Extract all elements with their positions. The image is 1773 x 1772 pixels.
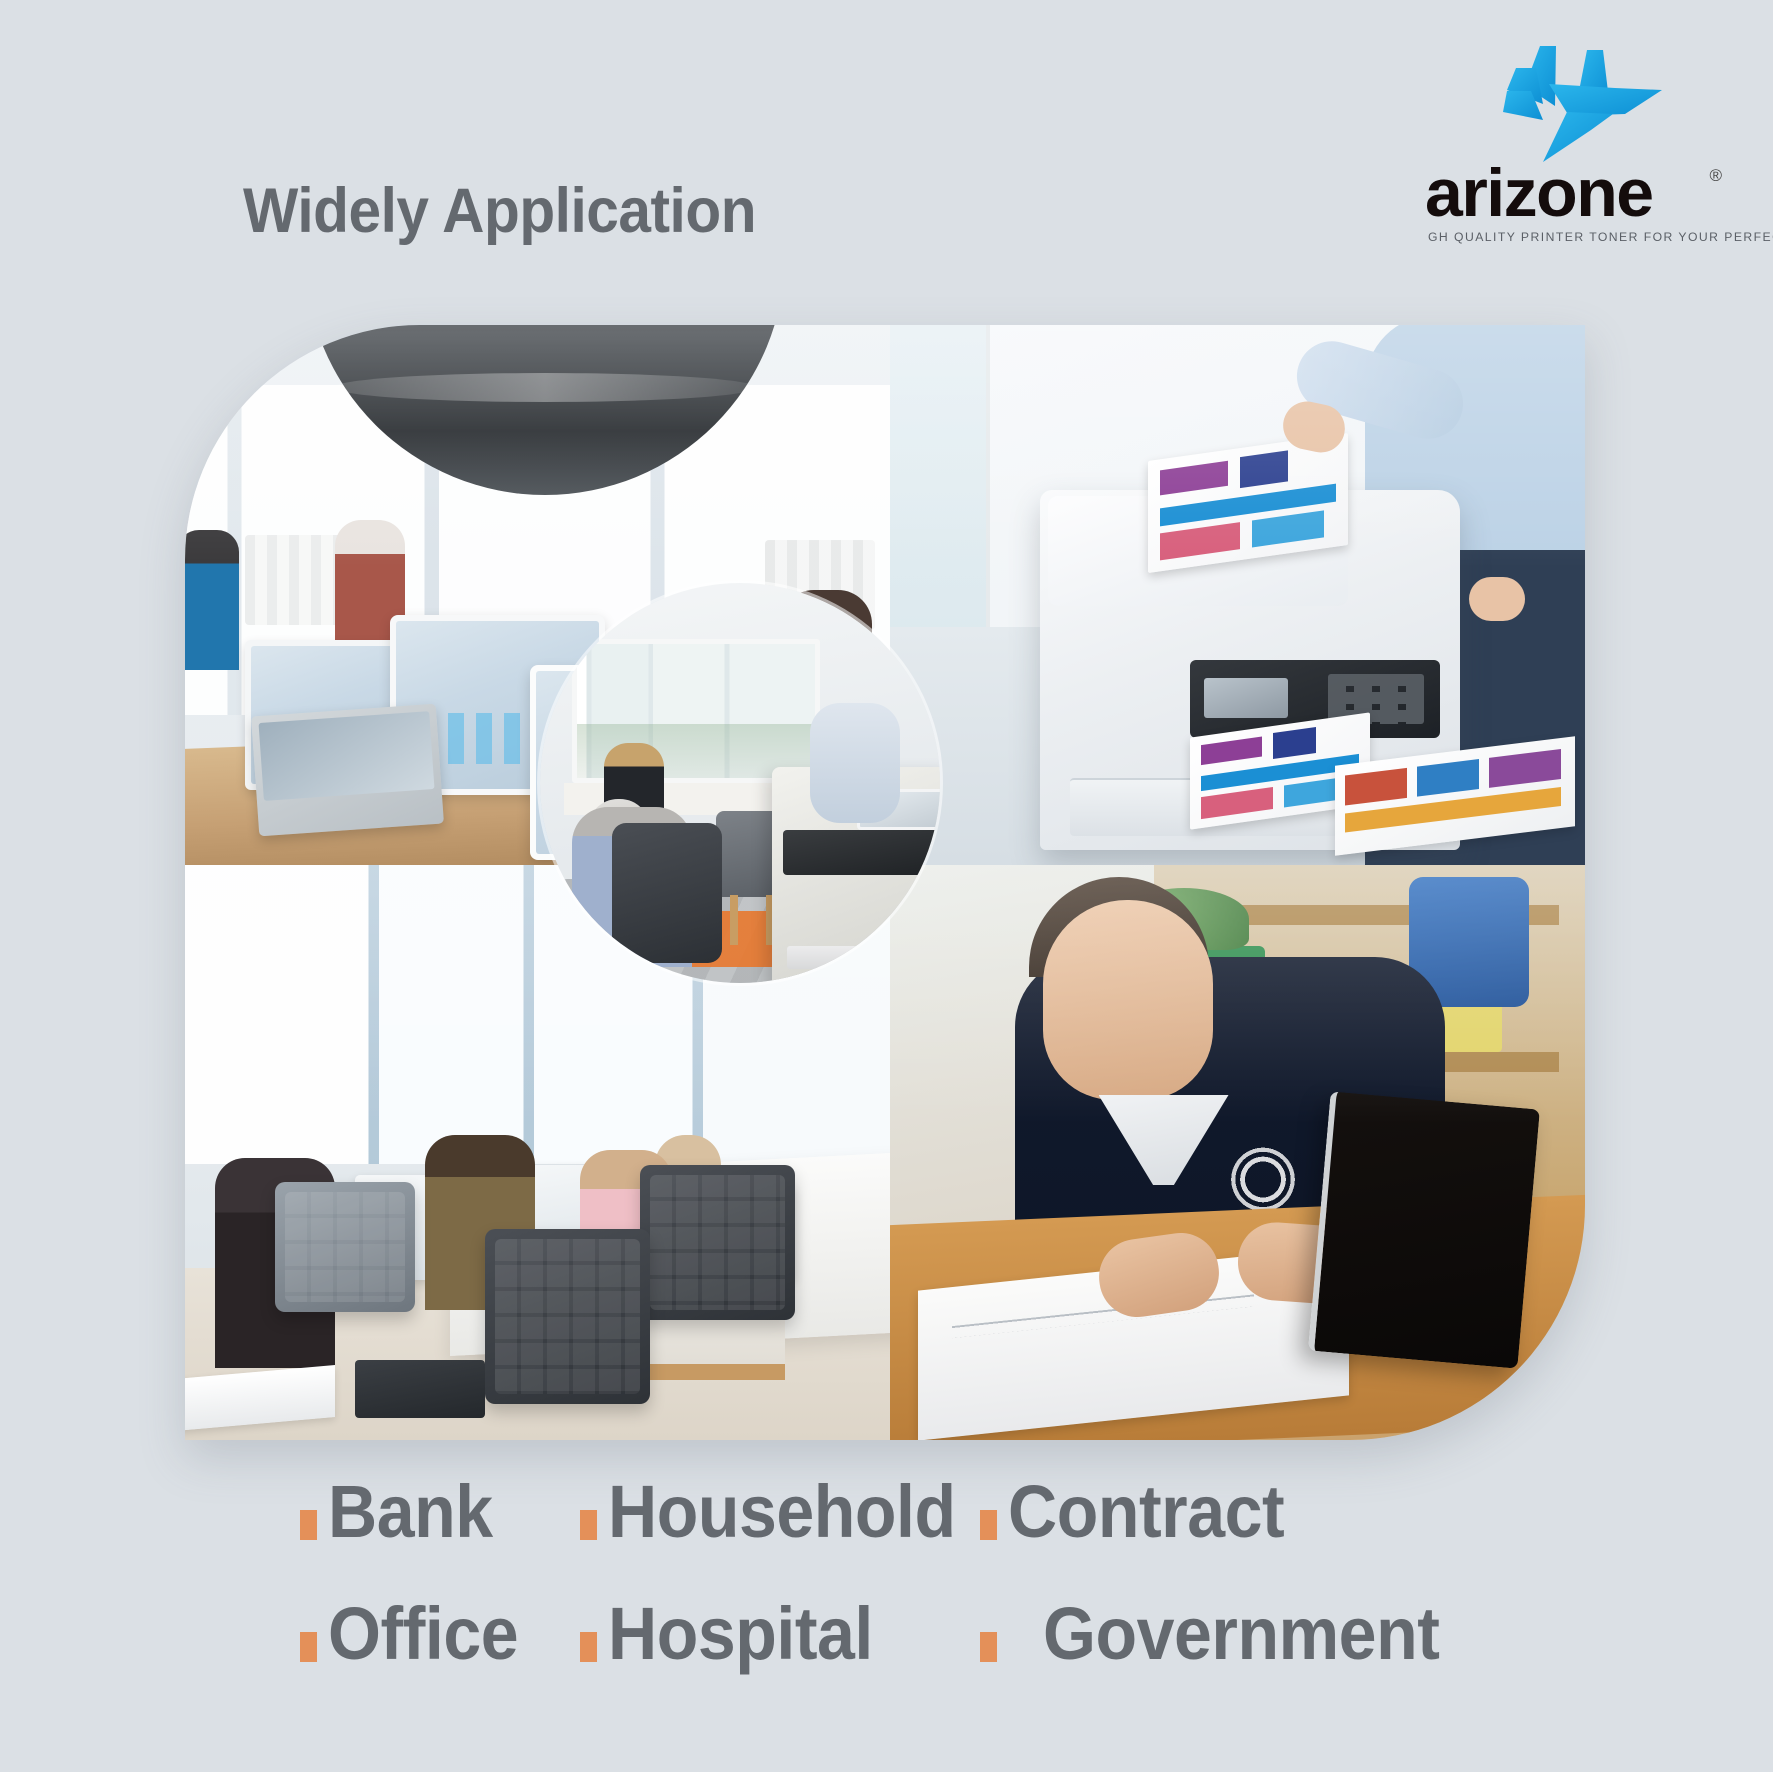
application-item-hospital: Hospital bbox=[580, 1597, 980, 1671]
bird-logo-icon bbox=[1483, 44, 1668, 164]
application-item-bank: Bank bbox=[300, 1475, 580, 1549]
poster-canvas: arizone ® GH QUALITY PRINTER TONER FOR Y… bbox=[0, 0, 1773, 1772]
photo-collage bbox=[185, 325, 1585, 1440]
photo-student-laptop-classroom bbox=[890, 865, 1585, 1440]
logo-wordmark: arizone bbox=[1425, 162, 1725, 224]
application-row-1: Bank Household Contract bbox=[300, 1475, 1620, 1549]
logo-tagline: GH QUALITY PRINTER TONER FOR YOUR PERFEC… bbox=[1428, 230, 1773, 244]
bullet-icon bbox=[580, 1632, 597, 1662]
application-label: Bank bbox=[328, 1475, 493, 1549]
application-label: Government bbox=[1043, 1597, 1439, 1671]
bullet-icon bbox=[580, 1510, 597, 1540]
application-label: Hospital bbox=[608, 1597, 873, 1671]
application-item-government: Government bbox=[980, 1597, 1460, 1671]
photo-canon-copier-office bbox=[540, 583, 940, 983]
brand-logo: arizone ® GH QUALITY PRINTER TONER FOR Y… bbox=[1425, 44, 1725, 249]
bullet-icon bbox=[300, 1632, 317, 1662]
photo-printer-color-output bbox=[890, 325, 1585, 865]
bullet-icon bbox=[980, 1632, 997, 1662]
page-title: Widely Application bbox=[243, 175, 756, 247]
application-list: Bank Household Contract Office Hospital bbox=[300, 1475, 1620, 1671]
bullet-icon bbox=[300, 1510, 317, 1540]
application-label: Household bbox=[608, 1475, 956, 1549]
application-item-household: Household bbox=[580, 1475, 980, 1549]
bullet-icon bbox=[980, 1510, 997, 1540]
application-row-2: Office Hospital Government bbox=[300, 1597, 1620, 1671]
application-label: Office bbox=[328, 1597, 518, 1671]
application-item-office: Office bbox=[300, 1597, 580, 1671]
application-item-contract: Contract bbox=[980, 1475, 1460, 1549]
registered-mark: ® bbox=[1709, 166, 1722, 186]
application-label: Contract bbox=[1008, 1475, 1284, 1549]
